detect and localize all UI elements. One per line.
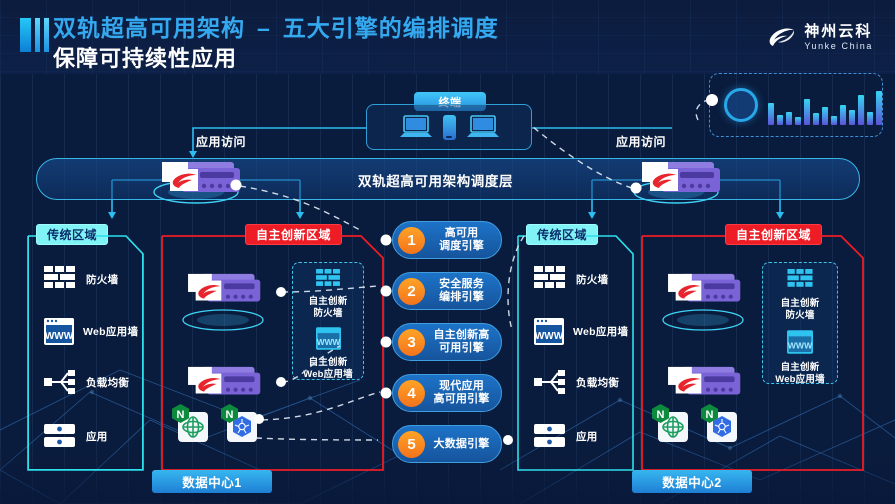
datacenter-label-2: 数据中心2 [632,470,752,493]
firewall-icon [44,266,75,292]
list-item: 防火墙 [534,266,608,292]
scheduler-device-icon [160,160,234,194]
svg-text:N: N [657,409,665,421]
innovation-inner-panel-dc2: 自主创新 防火墙 WWW 自主创新 Web应用墙 [762,262,838,384]
firewall-icon [315,269,341,294]
svg-text:WWW: WWW [45,331,74,342]
engine-card-4[interactable]: 4 现代应用 高可用引擎 [392,374,502,412]
nginx-icon: N [652,404,669,423]
zone-tab-innovation: 自主创新区域 [725,224,822,245]
title-line-2: 保障可持续性应用 [53,45,499,73]
access-label-right: 应用访问 [616,133,666,150]
list-item-label: 应用 [86,429,108,444]
load-balancer-icon [44,369,75,395]
engine-number: 5 [398,431,425,458]
laptop-icon [465,114,501,140]
list-item-label: 负载均衡 [86,375,129,390]
phone-icon [443,115,456,140]
accent-bar-1 [20,18,31,52]
laptop-icon [398,114,434,140]
logo-swirl-icon [767,22,797,52]
zone-tab-traditional: 传统区域 [526,224,598,245]
engine-label-line2: 调度引擎 [425,240,498,253]
panel-label-line1: 自主创新 [309,296,348,308]
panel-label-line1: 自主创新 [303,357,353,369]
engine-card-5[interactable]: 5 大数据引擎 [392,425,502,463]
innovation-device-icon [666,365,740,399]
svg-text:N: N [226,409,234,421]
panel-label-line2: Web应用墙 [303,369,353,381]
logo-name-en: Yunke China [804,42,873,51]
application-icon [44,424,75,448]
page-title: 双轨超高可用架构–五大引擎的编排调度 保障可持续性应用 [53,14,499,73]
engine-card-3[interactable]: 3 自主创新高 可用引擎 [392,323,502,361]
engine-label-line1: 大数据引擎 [425,438,498,451]
firewall-icon [786,269,814,295]
engine-label-line1: 高可用 [425,227,498,240]
list-item: 负载均衡 [534,369,619,395]
nginx-icon: N [172,404,189,423]
engine-number: 3 [398,329,425,356]
innovation-inner-panel-dc1: 自主创新 防火墙 WWW 自主创新 Web应用墙 [292,262,364,380]
company-logo: 神州云科 Yunke China [767,22,873,52]
panel-label-line2: Web应用墙 [775,374,825,386]
list-item: 防火墙 [44,266,118,292]
engine-card-2[interactable]: 2 安全服务 编排引擎 [392,272,502,310]
load-balancer-icon [534,369,565,395]
svg-text:WWW: WWW [316,337,340,347]
panel-label-line2: 防火墙 [781,310,820,322]
zone-tab-innovation: 自主创新区域 [245,224,342,245]
svg-text:WWW: WWW [788,341,813,351]
access-label-left: 应用访问 [196,133,246,150]
svg-text:WWW: WWW [535,331,564,342]
engine-label-line2: 可用引擎 [425,342,498,355]
list-item: 负载均衡 [44,369,129,395]
accent-bar-2 [35,18,40,52]
diagram-canvas: 双轨超高可用架构–五大引擎的编排调度 保障可持续性应用 神州云科 Yunke C… [0,0,895,504]
firewall-icon [534,266,565,292]
list-item-label: 应用 [576,429,598,444]
scheduler-device-icon [640,160,714,194]
bigdata-widget [709,73,883,137]
panel-label-line2: 防火墙 [309,308,348,320]
engine-card-1[interactable]: 1 高可用 调度引擎 [392,221,502,259]
engine-number: 1 [398,227,425,254]
nginx-icon: N [701,404,718,423]
engine-label-line1: 现代应用 [425,380,498,393]
list-item: 应用 [534,424,598,448]
bar-chart-icon [768,85,882,125]
waf-icon: WWW [44,318,72,344]
terminal-box [366,104,532,150]
list-item: 应用 [44,424,108,448]
list-item-label: 负载均衡 [576,375,619,390]
nginx-icon: N [221,404,238,423]
header-accent-bars [20,18,49,52]
application-icon [534,424,565,448]
waf-icon: WWW [316,327,341,355]
list-item-label: Web应用墙 [573,324,628,339]
list-item: WWW Web应用墙 [44,318,138,344]
donut-chart-icon [724,88,758,122]
engine-label-line1: 自主创新高 [425,329,498,342]
accent-bar-3 [44,18,49,52]
svg-text:N: N [177,409,185,421]
engine-label-line2: 高可用引擎 [425,393,498,406]
title-dash: – [245,15,283,41]
engine-label-line1: 安全服务 [425,278,498,291]
datacenter-label-1: 数据中心1 [152,470,272,493]
engine-number: 2 [398,278,425,305]
scheduling-layer-title: 双轨超高可用架构调度层 [358,170,513,190]
engine-number: 4 [398,380,425,407]
innovation-device-icon [186,272,260,306]
innovation-device-icon [186,365,260,399]
panel-label-line1: 自主创新 [781,298,820,310]
innovation-device-icon [666,272,740,306]
title-sub: 五大引擎的编排调度 [283,15,499,41]
logo-name-cn: 神州云科 [804,24,873,39]
waf-icon: WWW [787,330,813,359]
title-main: 双轨超高可用架构 [53,15,245,41]
list-item-label: 防火墙 [86,272,118,287]
list-item: WWW Web应用墙 [534,318,628,344]
waf-icon: WWW [534,318,562,344]
list-item-label: 防火墙 [576,272,608,287]
list-item-label: Web应用墙 [83,324,138,339]
panel-label-line1: 自主创新 [775,362,825,374]
svg-text:N: N [706,409,714,421]
engine-label-line2: 编排引擎 [425,291,498,304]
